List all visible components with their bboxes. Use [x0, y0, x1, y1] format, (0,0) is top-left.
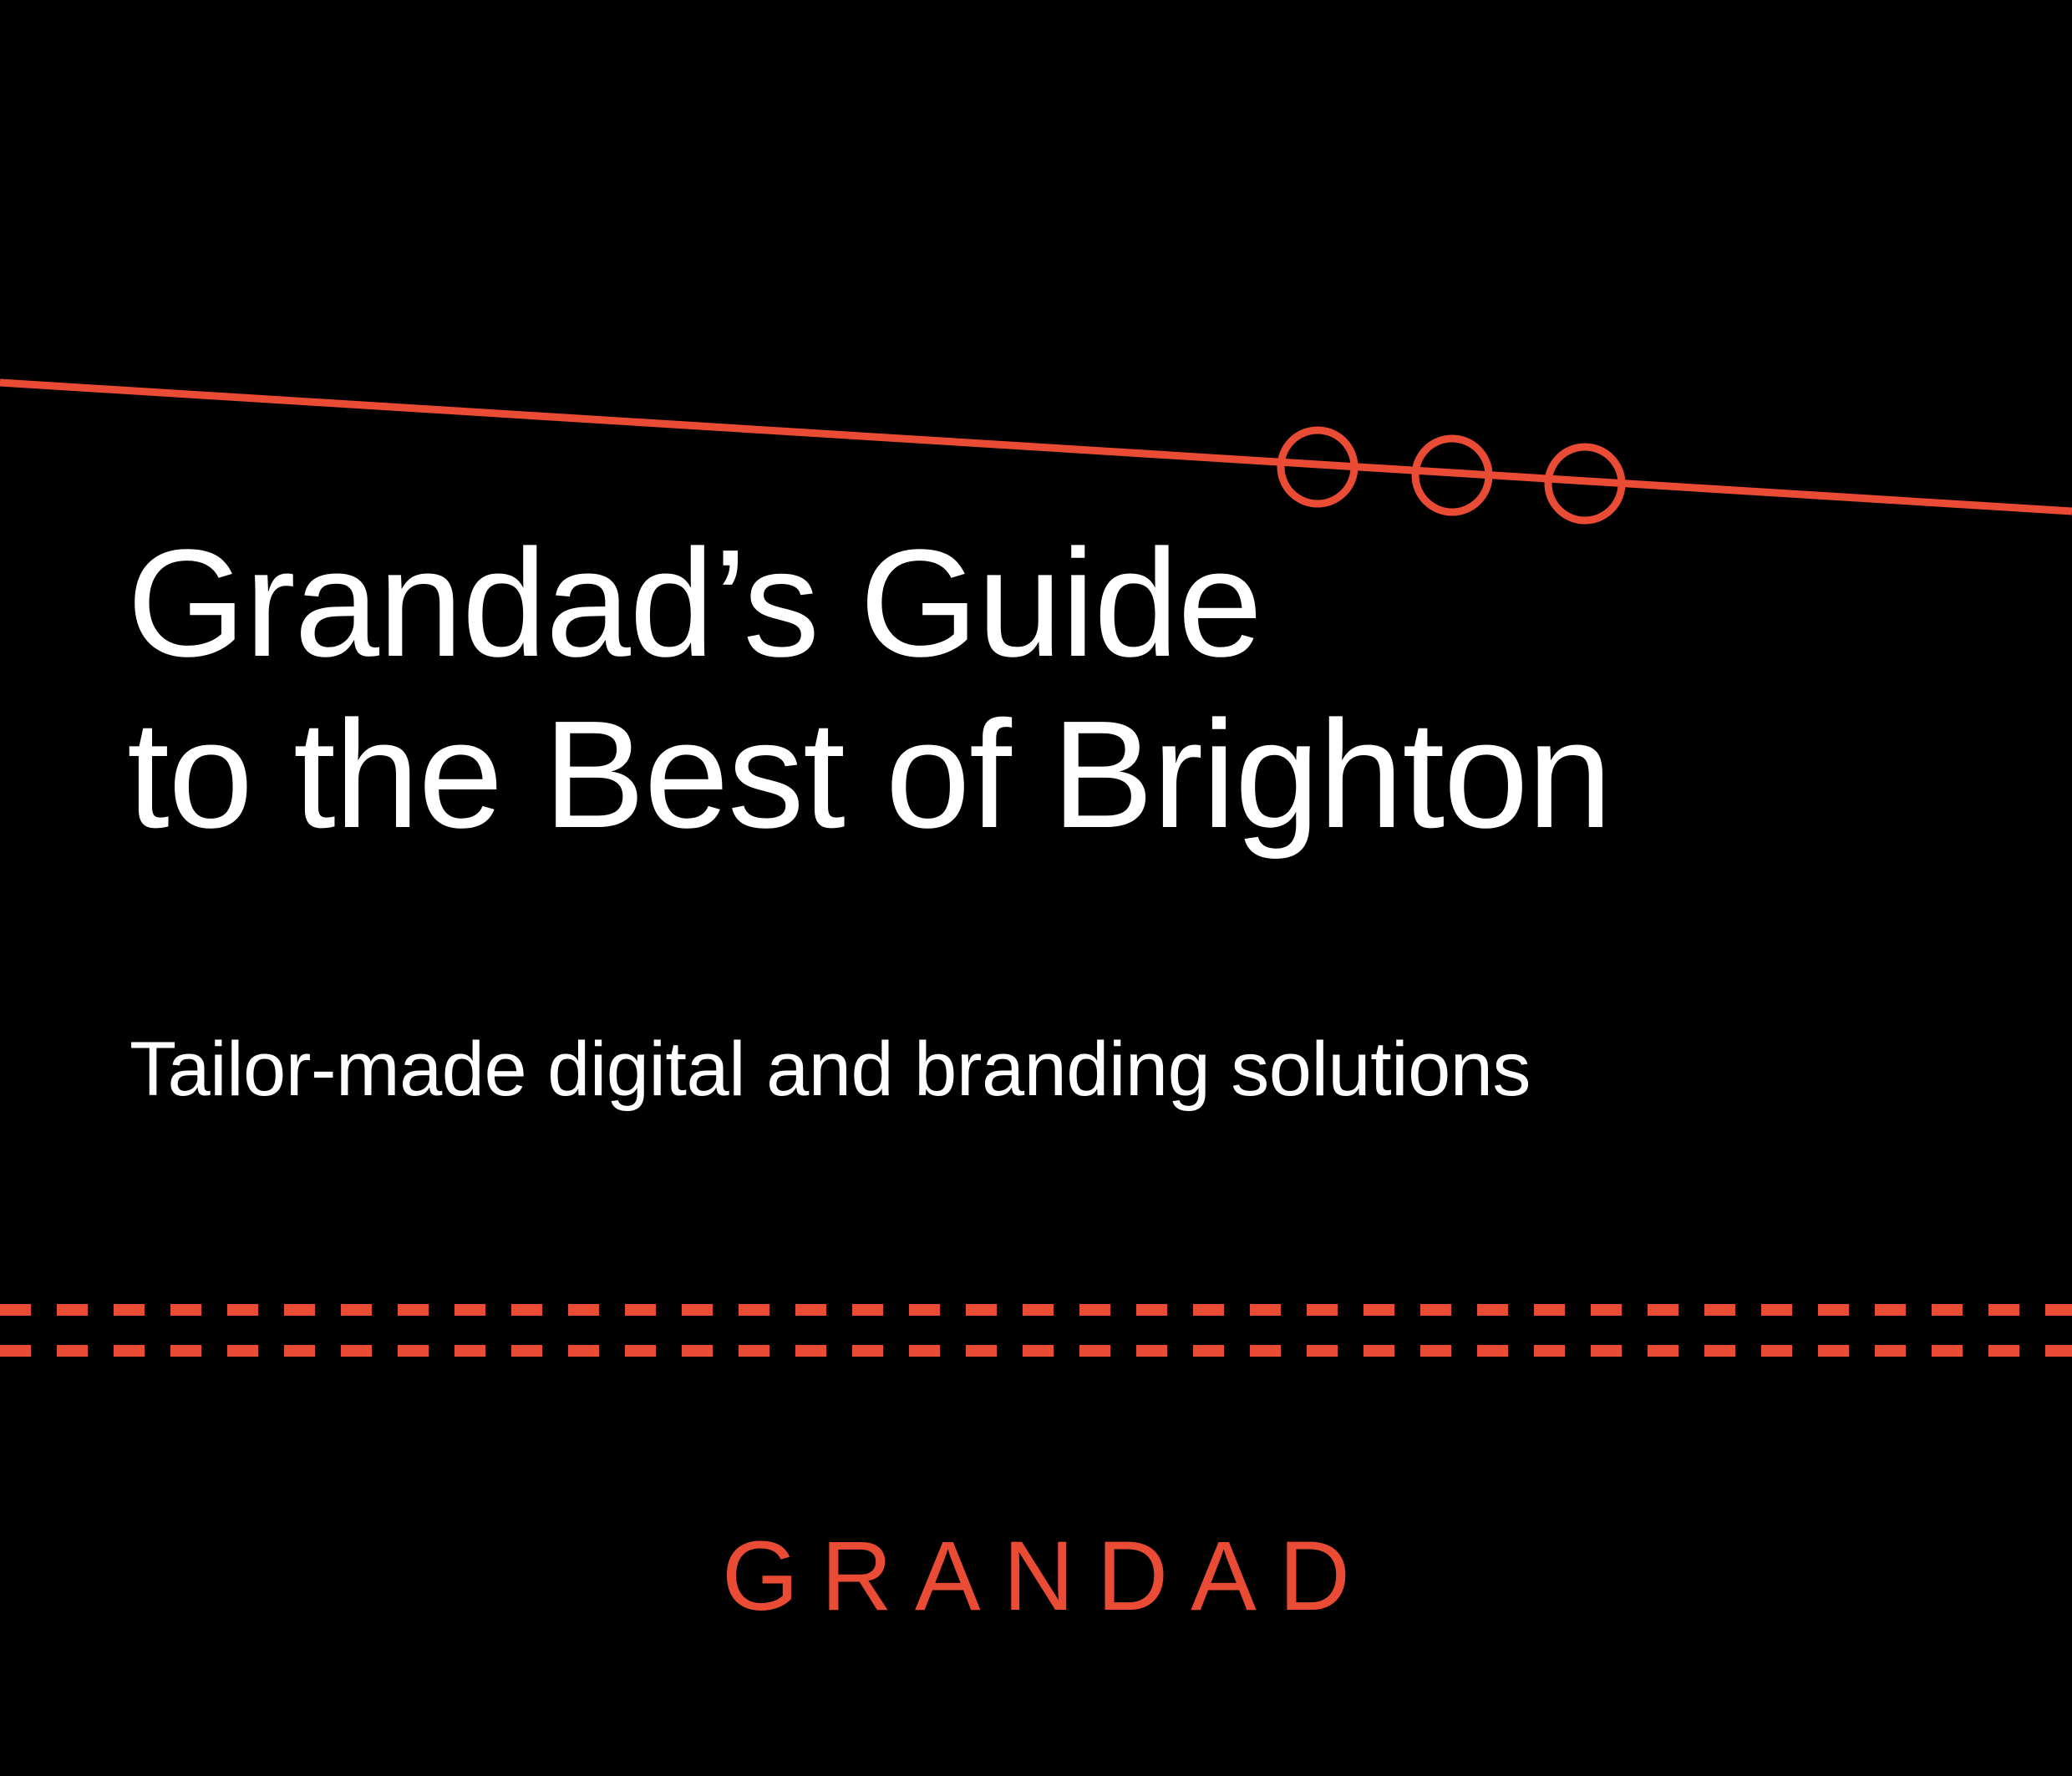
presentation-slide: Grandad’s Guide to the Best of Brighton …	[0, 0, 2072, 1776]
logo-wordmark: GRANDAD	[699, 1527, 1373, 1626]
dashed-divider-bottom	[0, 1345, 2072, 1357]
dashed-divider-top	[0, 1304, 2072, 1316]
decorative-line-and-circles	[0, 0, 2072, 1776]
circle-accent-2	[1415, 439, 1489, 512]
circle-accent-1	[1281, 430, 1354, 504]
headline-line-1: Grandad’s Guide	[127, 518, 1965, 689]
circle-accent-3	[1548, 447, 1622, 520]
brand-logo: GRANDAD	[0, 1527, 2072, 1626]
page-title: Grandad’s Guide to the Best of Brighton	[127, 518, 1965, 860]
subtitle: Tailor-made digital and branding solutio…	[129, 1026, 1531, 1114]
headline-line-2: to the Best of Brighton	[127, 689, 1965, 860]
diagonal-line-icon	[0, 383, 2072, 511]
logo-underline	[706, 1651, 1366, 1658]
